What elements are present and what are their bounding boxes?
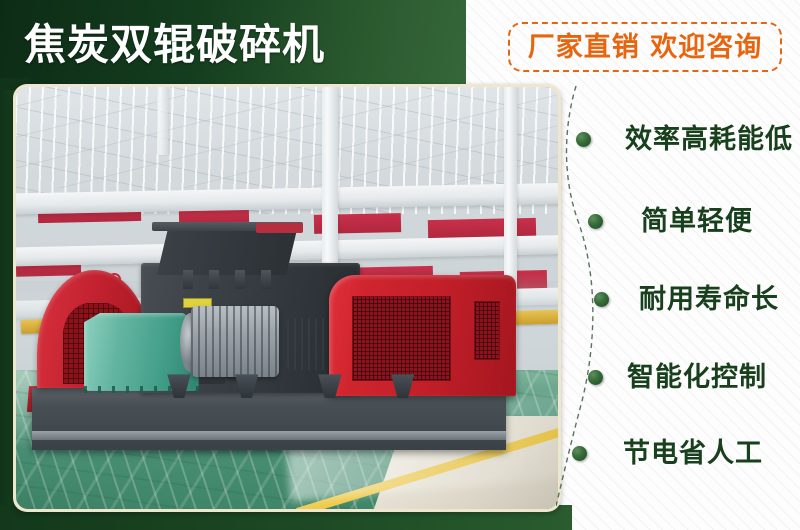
product-photo — [16, 87, 558, 509]
page-title: 焦炭双辊破碎机 — [24, 14, 454, 76]
bullet-dot-icon — [594, 292, 609, 307]
feed-hopper — [157, 228, 297, 275]
feature-list: 效率高耗能低 简单轻便 耐用寿命长 智能化控制 节电省人工 — [560, 86, 800, 506]
promo-badge[interactable]: 厂家直销 欢迎咨询 — [508, 22, 782, 72]
hopper-rib — [261, 270, 271, 289]
machine-base-frame — [32, 388, 505, 449]
hopper-rib — [235, 270, 245, 289]
support-column — [157, 87, 168, 155]
bullet-dot-icon — [588, 370, 603, 385]
hopper-rib — [209, 270, 219, 289]
hopper-rib — [183, 270, 193, 289]
feature-label: 简单轻便 — [641, 208, 753, 235]
promo-badge-label: 厂家直销 欢迎咨询 — [528, 34, 762, 61]
feature-label: 智能化控制 — [627, 364, 767, 391]
guard-mesh-panel — [352, 296, 451, 381]
bullet-dot-icon — [576, 132, 591, 147]
motor-cooling-fins — [191, 306, 279, 377]
product-banner: 焦炭双辊破碎机 厂家直销 欢迎咨询 — [0, 0, 800, 530]
bullet-dot-icon — [588, 214, 603, 229]
feature-label: 效率高耗能低 — [625, 126, 793, 153]
guard-mesh-vent — [474, 301, 500, 360]
feature-label: 节电省人工 — [623, 440, 763, 467]
feature-item[interactable]: 节电省人工 — [572, 440, 763, 467]
product-photo-frame — [13, 84, 561, 512]
ceiling-truss-secondary-icon — [16, 95, 558, 188]
feature-label: 耐用寿命长 — [639, 286, 779, 313]
feature-item[interactable]: 智能化控制 — [588, 364, 767, 391]
bullet-dot-icon — [572, 446, 587, 461]
hopper-red-accent — [256, 223, 303, 232]
feature-item[interactable]: 效率高耗能低 — [576, 126, 793, 153]
feature-item[interactable]: 耐用寿命长 — [594, 286, 779, 313]
machine-base-rail — [32, 431, 505, 440]
double-roller-crusher — [27, 214, 547, 450]
feature-item[interactable]: 简单轻便 — [588, 208, 753, 235]
